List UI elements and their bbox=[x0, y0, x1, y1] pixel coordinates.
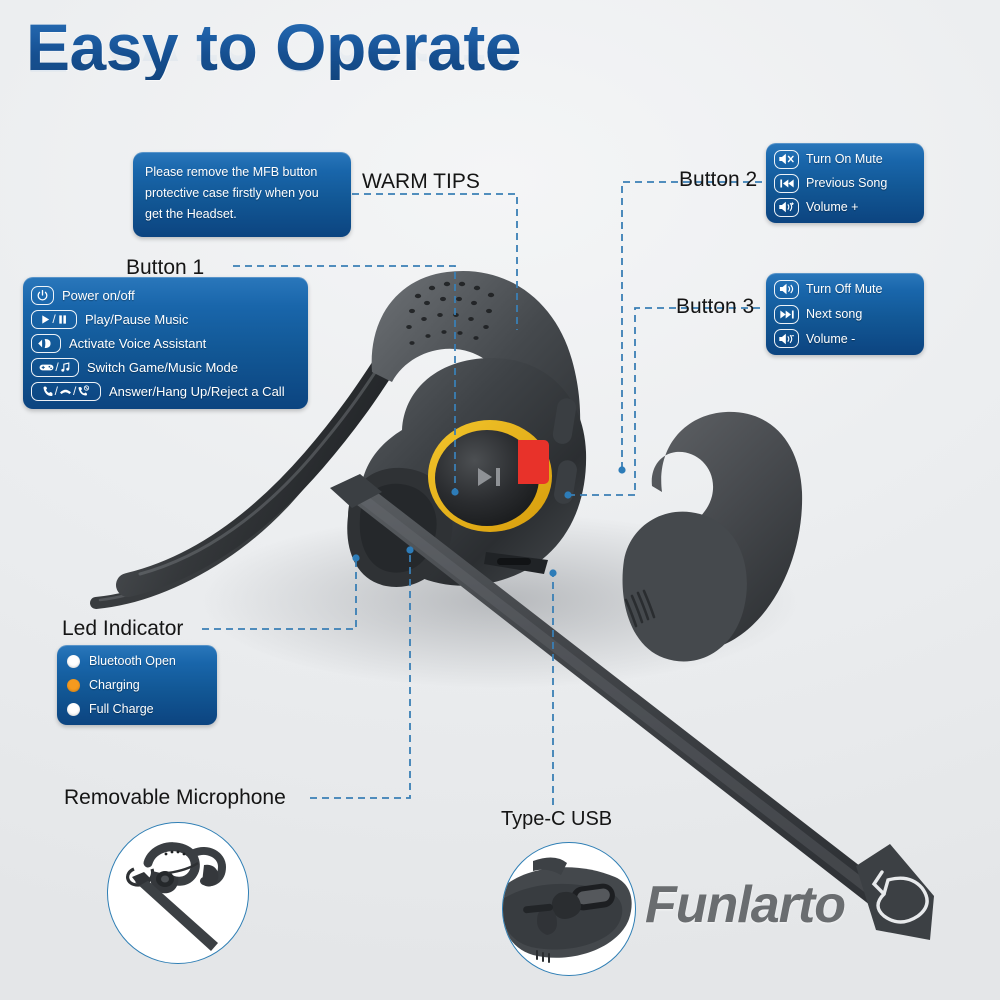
button2-row-mute-label: Turn On Mute bbox=[806, 152, 883, 166]
button1-row-call-label: Answer/Hang Up/Reject a Call bbox=[109, 384, 285, 399]
type-c-usb-inset bbox=[502, 842, 636, 976]
button1-row-voice-label: Activate Voice Assistant bbox=[69, 336, 206, 351]
page-title-block: Easy to Operate Easy to Operate bbox=[26, 14, 646, 124]
button3-row-unmute: Turn Off Mute bbox=[774, 277, 916, 302]
warm-tips-text: Please remove the MFB button protective … bbox=[145, 162, 339, 225]
button2-row-prev: Previous Song bbox=[774, 171, 916, 195]
infographic-canvas: Easy to Operate Easy to Operate WARM TIP… bbox=[0, 0, 1000, 1000]
led-indicator-panel: Bluetooth Open Charging Full Charge bbox=[57, 645, 217, 725]
button1-row-playpause: / Play/Pause Music bbox=[31, 307, 296, 331]
power-icon bbox=[31, 286, 54, 305]
button1-row-power-label: Power on/off bbox=[62, 288, 135, 303]
led-dot-icon bbox=[67, 703, 80, 716]
volume-down-icon bbox=[774, 329, 799, 348]
button3-panel: Turn Off Mute Next song bbox=[766, 273, 924, 355]
removable-microphone-inset bbox=[107, 822, 249, 964]
next-track-icon bbox=[774, 305, 799, 324]
led-row-charging: Charging bbox=[67, 673, 207, 697]
type-c-port bbox=[497, 558, 531, 565]
button1-row-gamemusic-label: Switch Game/Music Mode bbox=[87, 360, 238, 375]
warm-tips-label: WARM TIPS bbox=[362, 170, 480, 194]
button3-row-voldown: Volume - bbox=[774, 326, 916, 351]
button1-row-voice: Activate Voice Assistant bbox=[31, 331, 296, 355]
button2-panel: Turn On Mute Previous Song bbox=[766, 143, 924, 223]
previous-track-icon bbox=[774, 174, 799, 193]
button3-row-unmute-label: Turn Off Mute bbox=[806, 282, 882, 296]
play-pause-icon: / bbox=[31, 310, 77, 329]
warm-tips-panel: Please remove the MFB button protective … bbox=[133, 152, 351, 237]
led-row-fullcharge-label: Full Charge bbox=[89, 702, 154, 716]
type-c-usb-label: Type-C USB bbox=[501, 808, 612, 831]
button2-row-volup: Volume + bbox=[774, 195, 916, 219]
brand-logo: Funlarto bbox=[645, 875, 845, 935]
button1-row-gamemusic: / Switch Game/Music Mode bbox=[31, 355, 296, 379]
led-row-fullcharge: Full Charge bbox=[67, 697, 207, 721]
button2-row-mute: Turn On Mute bbox=[774, 147, 916, 171]
call-icons: / / bbox=[31, 382, 101, 401]
removable-microphone-label: Removable Microphone bbox=[64, 786, 286, 810]
button2-row-volup-label: Volume + bbox=[806, 200, 858, 214]
led-dot-icon bbox=[67, 679, 80, 692]
led-row-bluetooth: Bluetooth Open bbox=[67, 649, 207, 673]
led-indicator-label: Led Indicator bbox=[62, 617, 183, 641]
brand-name: Funlarto bbox=[645, 875, 845, 935]
button2-label: Button 2 bbox=[679, 168, 757, 192]
headset-with-mic-thumbnail bbox=[108, 823, 248, 963]
ear-pad-right bbox=[623, 512, 747, 662]
microphone-boom-tip bbox=[856, 844, 934, 940]
button2-row-prev-label: Previous Song bbox=[806, 176, 887, 190]
button3-row-voldown-label: Volume - bbox=[806, 332, 855, 346]
voice-assistant-icon bbox=[31, 334, 61, 353]
button3-row-next-label: Next song bbox=[806, 307, 862, 321]
gamepad-music-icon: / bbox=[31, 358, 79, 377]
mute-icon bbox=[774, 150, 799, 169]
type-c-port-thumbnail bbox=[503, 843, 635, 975]
button3-row-next: Next song bbox=[774, 302, 916, 327]
button3-label: Button 3 bbox=[676, 295, 754, 319]
unmute-icon bbox=[774, 280, 799, 299]
led-dot-icon bbox=[67, 655, 80, 668]
led-row-charging-label: Charging bbox=[89, 678, 140, 692]
button1-row-call: / / Answer/Hang Up/Reject a Call bbox=[31, 379, 296, 403]
led-row-bluetooth-label: Bluetooth Open bbox=[89, 654, 176, 668]
button1-row-playpause-label: Play/Pause Music bbox=[85, 312, 188, 327]
page-title-reflection: Easy to Operate bbox=[26, 16, 646, 82]
button1-row-power: Power on/off bbox=[31, 283, 296, 307]
button1-panel: Power on/off / Play/Pause Music Activa bbox=[23, 277, 308, 409]
volume-up-icon bbox=[774, 198, 799, 217]
mfb-protective-tab bbox=[518, 440, 549, 484]
